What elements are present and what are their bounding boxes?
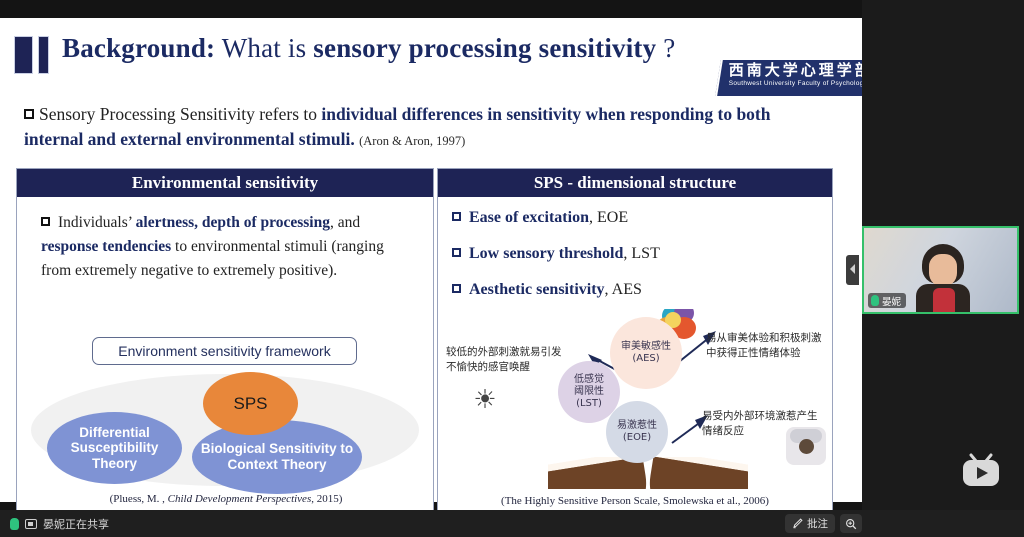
list-item: Ease of excitation, EOE — [452, 209, 822, 227]
meeting-bottom-bar: 晏妮正在共享 批注 — [0, 510, 1024, 537]
left-panel-body: Individuals’ alertness, depth of process… — [17, 197, 433, 510]
right-panel-body: Ease of excitation, EOE Low sensory thre… — [438, 197, 832, 510]
venn-ellipse-biological-sensitivity: Biological Sensitivity to Context Theory — [192, 420, 362, 494]
lp-part-1: alertness, depth of processing — [136, 214, 330, 231]
sps-dimension-diagram: ☀ — [438, 309, 832, 489]
logo-chinese-name: 西南大学心理学部 — [729, 62, 862, 79]
venn-ellipse-sps: SPS — [203, 372, 298, 435]
framework-label: Environment sensitivity framework — [118, 343, 330, 359]
circle-aes-cn: 审美敏感性 — [621, 341, 671, 353]
dimension-code-lst: , LST — [623, 245, 659, 262]
collapse-panel-handle[interactable] — [846, 255, 859, 285]
tv-play-icon — [958, 452, 1004, 490]
microphone-icon — [871, 295, 879, 306]
dimension-name-lst: Low sensory threshold — [469, 245, 623, 262]
dimension-list: Ease of excitation, EOE Low sensory thre… — [452, 209, 822, 317]
lp-part-0: Individuals’ — [58, 214, 136, 231]
screen-share-area: Background: What is sensory processing s… — [0, 0, 862, 510]
share-toolbar: 批注 — [785, 514, 862, 533]
dimension-name-aes: Aesthetic sensitivity — [469, 281, 605, 298]
slide-title-row: Background: What is sensory processing s… — [0, 30, 862, 82]
presentation-slide: Background: What is sensory processing s… — [0, 18, 862, 502]
university-logo: 西南大学心理学部 Southwest University Faculty of… — [715, 60, 862, 96]
venn-center-label: SPS — [233, 394, 267, 414]
pen-icon — [792, 518, 803, 529]
lotus-bowl-illustration — [548, 457, 748, 489]
lead-citation: (Aron & Aron, 1997) — [359, 134, 465, 148]
note-aes: 易从审美体验和积极刺激中获得正性情绪体验 — [706, 331, 826, 361]
zoom-share-button[interactable] — [840, 514, 862, 533]
circle-eoe-code: (EOE) — [623, 432, 651, 444]
participant-video-tile[interactable]: 晏妮 — [862, 226, 1019, 314]
bullet-square-icon — [452, 284, 461, 293]
right-panel-citation: (The Highly Sensitive Person Scale, Smol… — [438, 495, 832, 507]
left-panel-bullet: Individuals’ alertness, depth of process… — [41, 211, 413, 283]
left-panel-header: Environmental sensitivity — [17, 169, 433, 197]
zoom-meeting-window: Background: What is sensory processing s… — [0, 0, 1024, 537]
title-suffix: ? — [656, 33, 675, 63]
framework-callout: Environment sensitivity framework — [92, 337, 357, 365]
lp-part-2: , and — [330, 214, 360, 231]
magnifier-plus-icon — [845, 518, 857, 530]
bullet-square-icon — [24, 109, 34, 119]
lead-plain: Sensory Processing Sensitivity refers to — [39, 104, 317, 124]
right-panel-header: SPS - dimensional structure — [438, 169, 832, 197]
venn-ellipse-differential-susceptibility: Differential Susceptibility Theory — [47, 412, 182, 484]
participant-name: 晏妮 — [882, 294, 901, 308]
note-lst: 较低的外部刺激就易引发不愉快的感官唤醒 — [446, 345, 566, 375]
left-panel-citation: (Pluess, M. , Child Development Perspect… — [17, 493, 435, 505]
bullet-square-icon — [452, 248, 461, 257]
list-item: Aesthetic sensitivity, AES — [452, 281, 822, 299]
note-eoe: 易受内外部环境激惹产生情绪反应 — [702, 409, 822, 439]
venn-left-label: Differential Susceptibility Theory — [47, 425, 182, 472]
lp-part-3: response tendencies — [41, 238, 171, 255]
bright-light-icon: ☀ — [466, 383, 504, 417]
dimension-code-aes: , AES — [605, 281, 642, 298]
dimension-code-eoe: , EOE — [589, 209, 628, 226]
annotate-label: 批注 — [807, 516, 828, 531]
circle-aes-code: (AES) — [632, 353, 659, 365]
title-mid: What is — [215, 33, 313, 63]
cite-left-italic: Child Development Perspectives — [168, 493, 312, 505]
circle-eoe-cn: 易激惹性 — [617, 420, 657, 432]
circle-aes: 审美敏感性 (AES) — [610, 317, 682, 389]
circle-lst-cn: 低感觉 阈限性 — [574, 374, 604, 398]
lead-paragraph: Sensory Processing Sensitivity refers to… — [24, 102, 814, 152]
cite-left-b: , 2015) — [311, 493, 342, 505]
title-prefix: Background: — [62, 33, 215, 63]
circle-lst-code: (LST) — [576, 398, 602, 410]
participant-name-badge: 晏妮 — [868, 293, 906, 308]
title-accent-bar-2 — [38, 36, 49, 74]
annotate-button[interactable]: 批注 — [785, 514, 835, 533]
microphone-icon — [10, 518, 19, 530]
bullet-square-icon — [452, 212, 461, 221]
right-panel: SPS - dimensional structure Ease of exci… — [437, 168, 833, 510]
circle-eoe: 易激惹性 (EOE) — [606, 401, 668, 463]
cite-left-a: (Pluess, M. , — [110, 493, 168, 505]
title-accent-bar-1 — [14, 36, 33, 74]
screen-share-icon — [25, 519, 37, 529]
sharing-status: 晏妮正在共享 — [0, 516, 109, 532]
participant-avatar — [916, 244, 970, 314]
title-bold: sensory processing sensitivity — [313, 33, 656, 63]
bullet-square-icon — [41, 217, 50, 226]
list-item: Low sensory threshold, LST — [452, 245, 822, 263]
sharing-status-text: 晏妮正在共享 — [43, 516, 109, 532]
logo-english-name: Southwest University Faculty of Psycholo… — [729, 80, 862, 87]
left-panel: Environmental sensitivity Individuals’ a… — [16, 168, 434, 510]
page-title: Background: What is sensory processing s… — [62, 33, 675, 64]
venn-diagram: Differential Susceptibility Theory Biolo… — [25, 372, 425, 490]
dimension-name-eoe: Ease of excitation — [469, 209, 589, 226]
venn-right-label: Biological Sensitivity to Context Theory — [192, 441, 362, 472]
